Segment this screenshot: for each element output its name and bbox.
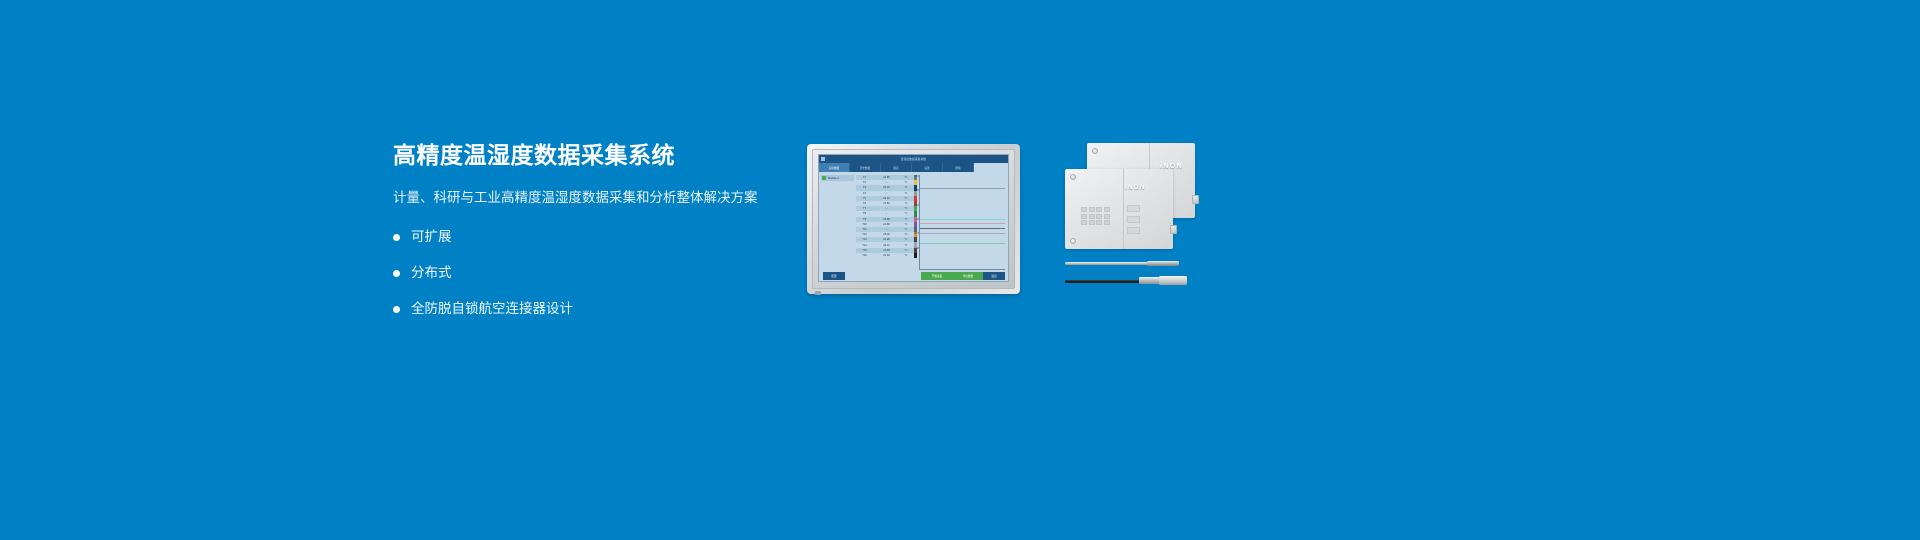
label-cell <box>1089 220 1095 225</box>
label-cell <box>1096 207 1102 212</box>
channel-id: T1 <box>856 176 873 179</box>
software-footer: 配置 开始采集 导出数据 退出 <box>819 270 1008 281</box>
label-cell <box>1089 207 1095 212</box>
channel-value: -- <box>873 207 900 210</box>
channel-value: 24.98 <box>873 218 900 221</box>
device-tree-panel: Module-1 <box>819 172 856 270</box>
module-label-grid <box>1081 207 1121 225</box>
channel-value: -- <box>873 192 900 195</box>
label-cell <box>1104 220 1110 225</box>
channel-id: T14 <box>856 244 873 247</box>
module-connector-port <box>1192 195 1199 204</box>
channel-value: 24.19 <box>873 186 900 189</box>
channel-value: 24.90 <box>873 249 900 252</box>
label-cell <box>1104 207 1110 212</box>
feature-item-1: 可扩展 <box>393 228 823 246</box>
feature-label: 可扩展 <box>411 228 452 246</box>
channel-id: T2 <box>856 181 873 184</box>
trend-line <box>920 233 1005 234</box>
channel-id: T12 <box>856 233 873 236</box>
tab-label: 实时数据 <box>829 166 839 170</box>
table-row[interactable]: T1621.94℃ <box>856 253 914 258</box>
tab-label: 报表 <box>893 166 898 170</box>
tab-history[interactable]: 历史数据 <box>850 163 881 172</box>
module-screw-icon <box>1092 148 1098 154</box>
device-tree-item[interactable]: Module-1 <box>821 175 854 181</box>
monitor-screen: 温湿度数据采集系统 实时数据 历史数据 报表 设置 帮助 <box>818 154 1009 282</box>
tab-realtime[interactable]: 实时数据 <box>819 163 850 172</box>
channel-id: T7 <box>856 207 873 210</box>
y-axis-tick: 23.5 <box>914 232 919 235</box>
app-window-icon <box>821 157 825 161</box>
channel-value: 24.12 <box>873 197 900 200</box>
label-cell <box>1104 214 1110 219</box>
cabled-sensor-probe-with-connector <box>1065 280 1145 283</box>
channel-value: 25.02 <box>873 233 900 236</box>
channel-table: T121.85℃T2--℃T324.19℃T4--℃T524.12℃T621.8… <box>856 172 914 270</box>
acquisition-modules: iNON iNON <box>1065 143 1195 258</box>
button-label: 退出 <box>991 274 996 278</box>
label-cell <box>1096 220 1102 225</box>
page-subtitle: 计量、科研与工业高精度温湿度数据采集和分析整体解决方案 <box>393 188 823 208</box>
chart-y-axis: 25.52524.52423.523 <box>911 175 920 261</box>
channel-id: T5 <box>856 197 873 200</box>
button-label: 开始采集 <box>932 274 942 278</box>
export-data-button[interactable]: 导出数据 <box>953 272 983 280</box>
trend-line <box>920 223 1005 224</box>
tab-report[interactable]: 报表 <box>881 163 912 172</box>
module-brand-label: iNON <box>1125 185 1146 191</box>
software-titlebar: 温湿度数据采集系统 <box>819 155 1008 163</box>
feature-item-2: 分布式 <box>393 264 823 282</box>
channel-id: T15 <box>856 249 873 252</box>
tab-help[interactable]: 帮助 <box>943 163 974 172</box>
industrial-panel-monitor: 温湿度数据采集系统 实时数据 历史数据 报表 设置 帮助 <box>807 144 1020 294</box>
channel-value: 24.28 <box>873 238 900 241</box>
channel-value: 24.11 <box>873 244 900 247</box>
channel-value: 21.85 <box>873 176 900 179</box>
y-axis-tick: 23 <box>916 247 919 250</box>
channel-value: 21.81 <box>873 202 900 205</box>
status-online-icon <box>822 176 826 180</box>
module-label-tag <box>1127 227 1140 234</box>
channel-id: T3 <box>856 186 873 189</box>
monitor-stand-foot <box>815 291 821 295</box>
page-title: 高精度温湿度数据采集系统 <box>393 140 823 170</box>
module-screw-icon <box>1070 174 1076 180</box>
channel-id: T11 <box>856 228 873 231</box>
probe-barrel <box>1159 276 1187 285</box>
module-seam <box>1123 169 1124 249</box>
button-label: 配置 <box>831 274 836 278</box>
marketing-copy: 高精度温湿度数据采集系统 计量、科研与工业高精度温湿度数据采集和分析整体解决方案… <box>393 140 823 336</box>
label-cell <box>1081 214 1087 219</box>
probe-connector <box>1139 277 1161 284</box>
channel-id: T4 <box>856 192 873 195</box>
y-axis-tick: 25.5 <box>914 175 919 178</box>
probe-separator <box>1065 272 1191 273</box>
module-screw-icon <box>1070 238 1076 244</box>
channel-id: T8 <box>856 212 873 215</box>
window-title: 温湿度数据采集系统 <box>901 157 926 161</box>
product-banner: 高精度温湿度数据采集系统 计量、科研与工业高精度温湿度数据采集和分析整体解决方案… <box>0 0 1920 540</box>
y-axis-tick: 24.5 <box>914 204 919 207</box>
trend-chart: 25.52524.52423.523 10:0510:1510:2510:351… <box>919 175 1005 270</box>
trend-line <box>920 228 1005 229</box>
feature-label: 分布式 <box>411 264 452 282</box>
label-cell <box>1089 214 1095 219</box>
channel-value: -- <box>873 181 900 184</box>
y-axis-tick: 25 <box>916 189 919 192</box>
label-cell <box>1081 207 1087 212</box>
button-label: 导出数据 <box>963 274 973 278</box>
feature-label: 全防脱自锁航空连接器设计 <box>411 300 573 318</box>
tabbar-filler <box>974 163 1008 172</box>
module-label-tag <box>1127 205 1140 212</box>
channel-id: T13 <box>856 238 873 241</box>
config-button[interactable]: 配置 <box>823 272 845 280</box>
channel-value: -- <box>873 212 900 215</box>
channel-id: T10 <box>856 223 873 226</box>
tab-label: 帮助 <box>955 166 960 170</box>
module-label-tag <box>1127 216 1140 223</box>
channel-value: 24.88 <box>873 223 900 226</box>
module-label-area <box>1081 207 1121 225</box>
tab-label: 历史数据 <box>860 166 870 170</box>
channel-id: T6 <box>856 202 873 205</box>
feature-item-3: 全防脱自锁航空连接器设计 <box>393 300 823 318</box>
start-acquisition-button[interactable]: 开始采集 <box>921 272 953 280</box>
exit-button[interactable]: 退出 <box>983 272 1005 280</box>
tab-settings[interactable]: 设置 <box>912 163 943 172</box>
sensor-probes <box>1065 258 1200 298</box>
label-cell <box>1096 214 1102 219</box>
channel-value: -- <box>873 228 900 231</box>
software-body: Module-1 T121.85℃T2--℃T324.19℃T4--℃T524.… <box>819 172 1008 270</box>
acquisition-module-front: iNON <box>1065 169 1173 249</box>
software-tabbar: 实时数据 历史数据 报表 设置 帮助 <box>819 163 1008 172</box>
y-axis-tick: 24 <box>916 218 919 221</box>
module-connector-port <box>1170 225 1177 234</box>
tab-label: 设置 <box>924 166 929 170</box>
dot-bullet-icon <box>393 270 400 277</box>
channel-value: 21.94 <box>873 254 900 257</box>
label-cell <box>1081 220 1087 225</box>
device-name: Module-1 <box>828 177 839 180</box>
dot-bullet-icon <box>393 306 400 313</box>
trend-line <box>920 188 1005 189</box>
trend-line <box>920 243 1005 244</box>
trend-line <box>920 219 1005 220</box>
channel-id: T9 <box>856 218 873 221</box>
channel-id: T16 <box>856 254 873 257</box>
probe-tip <box>1147 261 1179 266</box>
feature-list: 可扩展 分布式 全防脱自锁航空连接器设计 <box>393 228 823 318</box>
dot-bullet-icon <box>393 234 400 241</box>
